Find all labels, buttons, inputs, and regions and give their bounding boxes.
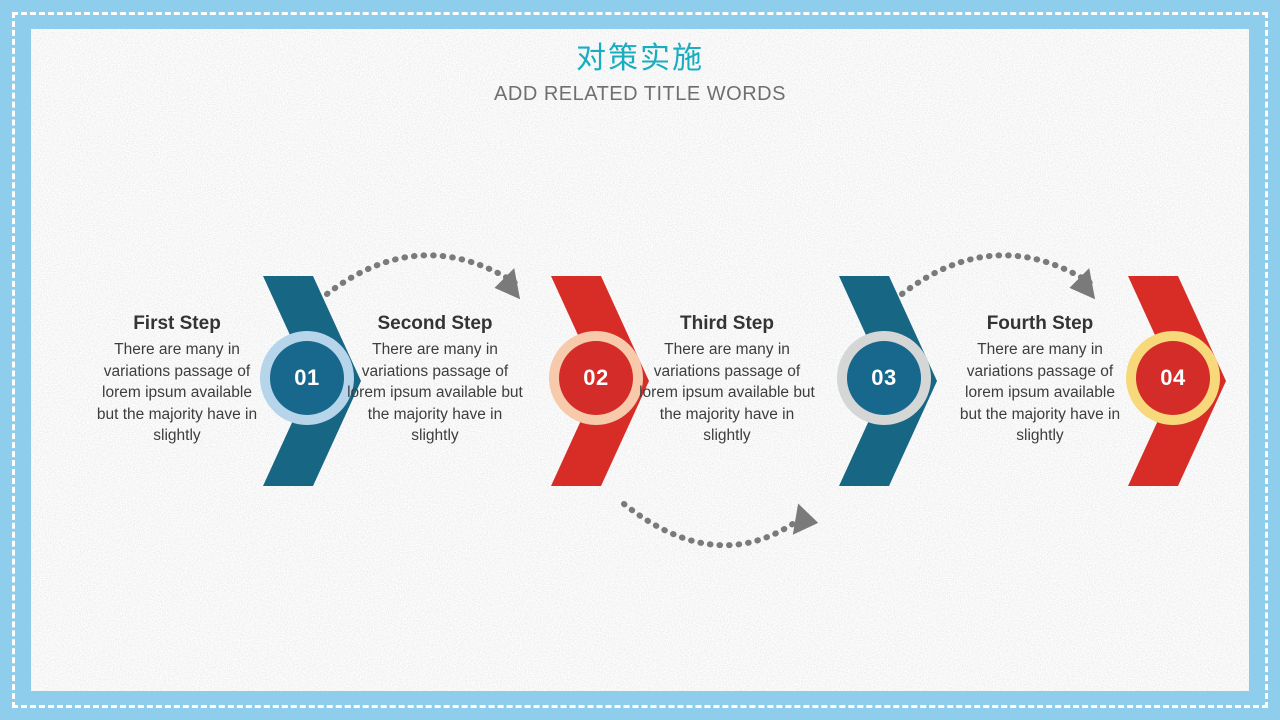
step-text-2: Second Step There are many in variations…	[345, 312, 525, 447]
step-body-2: There are many in variations passage of …	[345, 339, 525, 447]
step-title-4: Fourth Step	[954, 312, 1126, 336]
step-badge-4[interactable]: 04	[1136, 341, 1210, 415]
step-title-2: Second Step	[345, 312, 525, 336]
step-body-4: There are many in variations passage of …	[954, 339, 1126, 447]
step-list: 01 First Step There are many in variatio…	[31, 29, 1249, 691]
step-body-3: There are many in variations passage of …	[637, 339, 817, 447]
step-number-3: 03	[871, 365, 896, 391]
step-badge-3[interactable]: 03	[847, 341, 921, 415]
step-badge-2[interactable]: 02	[559, 341, 633, 415]
step-text-1: First Step There are many in variations …	[91, 312, 263, 447]
slide-canvas: 对策实施 ADD RELATED TITLE WORDS 01	[31, 29, 1249, 691]
step-title-1: First Step	[91, 312, 263, 336]
step-number-4: 04	[1160, 365, 1185, 391]
step-number-1: 01	[294, 365, 319, 391]
step-text-3: Third Step There are many in variations …	[637, 312, 817, 447]
step-badge-1[interactable]: 01	[270, 341, 344, 415]
step-title-3: Third Step	[637, 312, 817, 336]
step-number-2: 02	[583, 365, 608, 391]
slide-root: 对策实施 ADD RELATED TITLE WORDS 01	[0, 0, 1280, 720]
step-text-4: Fourth Step There are many in variations…	[954, 312, 1126, 447]
step-body-1: There are many in variations passage of …	[91, 339, 263, 447]
